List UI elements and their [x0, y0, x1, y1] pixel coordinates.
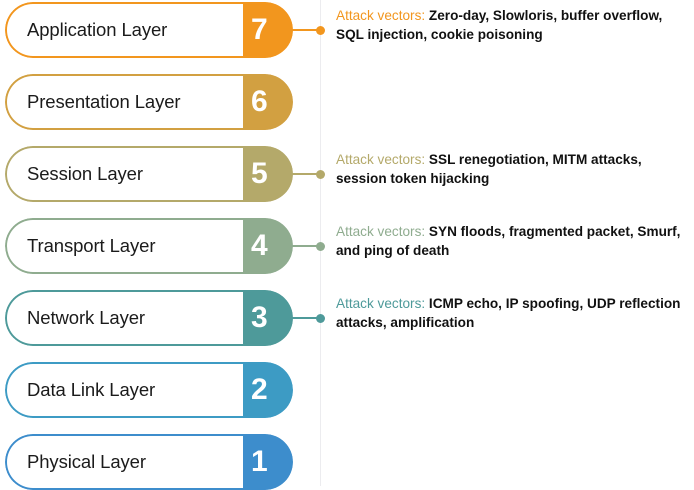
- layer-name-box-3: Network Layer: [5, 290, 243, 346]
- connector-line-7: [288, 29, 317, 31]
- layer-number-label: 1: [251, 447, 268, 477]
- connector-dot-4: [316, 242, 325, 251]
- connector-dot-3: [316, 314, 325, 323]
- layer-number-label: 5: [251, 159, 268, 189]
- layer-name-label: Session Layer: [27, 163, 143, 185]
- layer-number-label: 7: [251, 15, 268, 45]
- layer-number-label: 6: [251, 87, 268, 117]
- layer-name-box-6: Presentation Layer: [5, 74, 243, 130]
- layer-bar-5[interactable]: Session Layer5: [5, 146, 293, 202]
- layer-name-box-7: Application Layer: [5, 2, 243, 58]
- layer-number-box-5: 5: [243, 146, 293, 202]
- annotation-layer-7: Attack vectors: Zero-day, Slowloris, buf…: [336, 7, 688, 45]
- layer-name-box-4: Transport Layer: [5, 218, 243, 274]
- connector-line-5: [288, 173, 317, 175]
- layer-bar-4[interactable]: Transport Layer4: [5, 218, 293, 274]
- layer-name-label: Application Layer: [27, 19, 167, 41]
- layer-name-label: Physical Layer: [27, 451, 146, 473]
- layer-name-box-1: Physical Layer: [5, 434, 243, 490]
- connector-line-3: [288, 317, 317, 319]
- connector-line-4: [288, 245, 317, 247]
- layer-number-label: 2: [251, 375, 268, 405]
- layer-name-label: Data Link Layer: [27, 379, 155, 401]
- layer-number-box-6: 6: [243, 74, 293, 130]
- layer-bar-2[interactable]: Data Link Layer2: [5, 362, 293, 418]
- layer-number-label: 3: [251, 303, 268, 333]
- layer-name-label: Presentation Layer: [27, 91, 181, 113]
- layer-number-box-2: 2: [243, 362, 293, 418]
- annotation-layer-3: Attack vectors: ICMP echo, IP spoofing, …: [336, 295, 688, 333]
- layer-bar-3[interactable]: Network Layer3: [5, 290, 293, 346]
- layer-name-label: Network Layer: [27, 307, 145, 329]
- connector-dot-5: [316, 170, 325, 179]
- layer-number-box-1: 1: [243, 434, 293, 490]
- layer-name-label: Transport Layer: [27, 235, 155, 257]
- layer-number-box-4: 4: [243, 218, 293, 274]
- attack-vectors-label: Attack vectors:: [336, 296, 425, 311]
- layer-bar-6[interactable]: Presentation Layer6: [5, 74, 293, 130]
- layer-number-label: 4: [251, 231, 268, 261]
- connector-dot-7: [316, 26, 325, 35]
- layer-bar-7[interactable]: Application Layer7: [5, 2, 293, 58]
- annotation-layer-4: Attack vectors: SYN floods, fragmented p…: [336, 223, 688, 261]
- attack-vectors-label: Attack vectors:: [336, 224, 425, 239]
- layer-name-box-5: Session Layer: [5, 146, 243, 202]
- layer-name-box-2: Data Link Layer: [5, 362, 243, 418]
- osi-layer-diagram: Application Layer7Presentation Layer6Ses…: [0, 0, 694, 486]
- layer-number-box-3: 3: [243, 290, 293, 346]
- layer-bar-1[interactable]: Physical Layer1: [5, 434, 293, 490]
- layer-number-box-7: 7: [243, 2, 293, 58]
- attack-vectors-label: Attack vectors:: [336, 8, 425, 23]
- attack-vectors-label: Attack vectors:: [336, 152, 425, 167]
- annotation-layer-5: Attack vectors: SSL renegotiation, MITM …: [336, 151, 688, 189]
